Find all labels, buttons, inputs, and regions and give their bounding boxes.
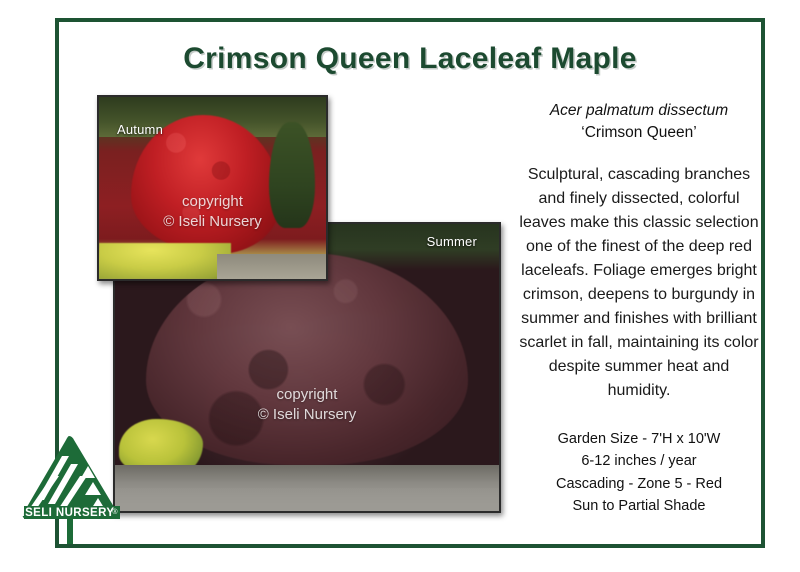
logo-triangle-icon: ISELI NURSERY ® xyxy=(16,432,126,544)
botanical-cultivar: ‘Crimson Queen’ xyxy=(518,122,760,144)
photo-label-autumn: Autumn xyxy=(117,122,163,137)
plant-description: Sculptural, cascading branches and finel… xyxy=(518,163,760,403)
spec-growth-rate: 6-12 inches / year xyxy=(518,450,760,472)
autumn-conifer xyxy=(269,122,314,228)
spec-exposure: Sun to Partial Shade xyxy=(518,495,760,517)
info-panel: Acer palmatum dissectum ‘Crimson Queen’ … xyxy=(518,100,760,403)
logo-registered-mark: ® xyxy=(112,508,118,516)
plant-specifications: Garden Size - 7'H x 10'W 6-12 inches / y… xyxy=(518,428,760,518)
autumn-ground xyxy=(217,254,326,279)
summer-path xyxy=(115,488,499,511)
photo-autumn: Autumn copyright © Iseli Nursery xyxy=(97,95,328,281)
botanical-name: Acer palmatum dissectum ‘Crimson Queen’ xyxy=(518,100,760,145)
botanical-species: Acer palmatum dissectum xyxy=(518,100,760,122)
iseli-nursery-logo: ISELI NURSERY ® xyxy=(16,432,126,544)
logo-text: ISELI NURSERY xyxy=(22,507,115,519)
spec-garden-size: Garden Size - 7'H x 10'W xyxy=(518,428,760,450)
spec-habit-zone-color: Cascading - Zone 5 - Red xyxy=(518,473,760,495)
autumn-yellow-hedge xyxy=(99,243,231,279)
photo-label-summer: Summer xyxy=(427,234,477,249)
page-title: Crimson Queen Laceleaf Maple xyxy=(75,42,745,76)
